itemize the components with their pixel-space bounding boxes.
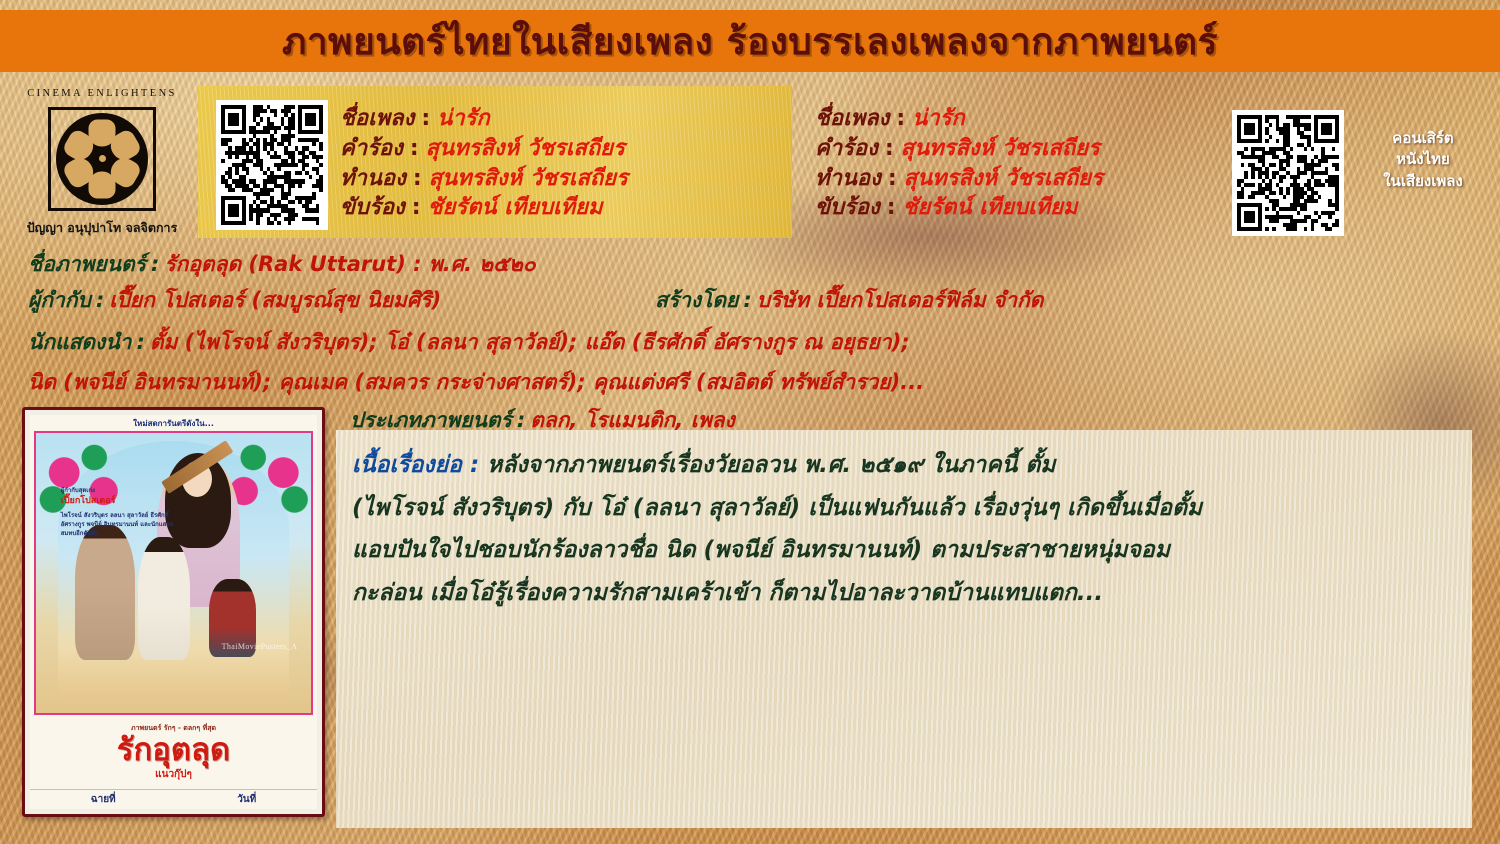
song-info-left: ชื่อเพลง : น่ารัก คำร้อง : สุนทรสิงห์ วั… [340,92,790,236]
song-row-singer: ขับร้อง : ชัยรัตน์ เทียบเทียม [340,195,790,222]
song-row-melody: ทำนอง : สุนทรสิงห์ วัชรเสถียร [340,166,790,193]
song-singer-value: ชัยรัตน์ เทียบเทียม [428,195,603,222]
film-reel-icon [48,107,156,211]
film-title-label: ชื่อภาพยนตร์ [28,252,146,276]
song-row-title: ชื่อเพลง : น่ารัก [815,106,1255,133]
qr-module [319,221,323,225]
separator: : [146,252,164,276]
separator: : [512,408,530,432]
synopsis-line-2: (ไพโรจน์ สังวริบุตร) กับ โอ๋ (ลลนา สุลาว… [352,487,1482,530]
poster-watermark: ThaiMoviePosters_A [222,642,298,651]
figure-girl-center [138,537,190,660]
song-lyrics-value: สุนทรสิงห์ วัชรเสถียร [426,136,625,163]
song-title-label: ชื่อเพลง [340,106,414,133]
poster-credits-highlight: เปี๊ยกโปสเตอร์ [61,495,177,509]
film-genre-row: ประเภทภาพยนตร์:ตลก, โรแมนติก, เพลง [350,408,735,433]
song-singer-value: ชัยรัตน์ เทียบเทียม [903,195,1078,222]
song-lyrics-value: สุนทรสิงห์ วัชรเสถียร [901,136,1100,163]
concert-caption: คอนเสิร์ต หนังไทย ในเสียงเพลง [1358,128,1488,192]
logo-bottom-text: ปัญญา อนุปุปาโท จลจิตการ [27,218,178,238]
film-title-value: รักอุตลุด (Rak Uttarut) : พ.ศ. ๒๕๒๐ [164,252,535,276]
song-lyrics-label: คำร้อง [815,136,878,163]
poster-top-text: ใหม่สดการันตรีดังใน... [30,415,317,431]
synopsis-heading: เนื้อเรื่องย่อ [352,452,462,478]
song-row-lyrics: คำร้อง : สุนทรสิงห์ วัชรเสถียร [815,136,1255,163]
separator: : [878,136,901,163]
concert-caption-line-1: คอนเสิร์ต [1358,128,1488,149]
film-cast-row-2: นิด (พจนีย์ อินทรมานนท์); คุณเมค (สมควร … [28,370,924,395]
separator: : [881,166,904,193]
separator: : [406,166,429,193]
song-melody-value: สุนทรสิงห์ วัชรเสถียร [429,166,628,193]
concert-caption-line-2: หนังไทย [1358,149,1488,170]
poster-credits-pre: ผู้กำกับสุดเก่ง [61,487,95,494]
song-lyrics-label: คำร้อง [340,136,403,163]
poster-title-area: ภาพยนตร์ รักๆ - ตลกๆ ที่สุด รักอุตลุด แน… [30,715,317,789]
film-title-row: ชื่อภาพยนตร์:รักอุตลุด (Rak Uttarut) : พ… [28,252,536,277]
qr-module [1335,227,1339,231]
poster-page: ภาพยนตร์ไทยในเสียงเพลง ร้องบรรเลงเพลงจาก… [0,0,1500,844]
movie-poster-thumbnail[interactable]: ใหม่สดการันตรีดังใน... ผู้กำกับสุดเก่ง เ… [22,407,325,817]
film-director-value: เปี๊ยก โปสเตอร์ (สมบูรณ์สุข นิยมศิริ) [109,288,441,312]
poster-subtitle: แนวกุ๊ปๆ [155,767,192,782]
film-genre-value: ตลก, โรแมนติก, เพลง [530,408,735,432]
separator: : [414,106,437,133]
logo-top-text: CINEMA ENLIGHTENS [27,88,177,99]
film-producer-row: สร้างโดย:บริษัท เปี๊ยกโปสเตอร์ฟิล์ม จำกั… [655,288,1043,313]
film-director-row: ผู้กำกับ:เปี๊ยก โปสเตอร์ (สมบูรณ์สุข นิย… [28,288,441,313]
separator: : [889,106,912,133]
poster-footer-left: ฉายที่ [91,792,116,807]
concert-caption-line-3: ในเสียงเพลง [1358,171,1488,192]
song-row-melody: ทำนอง : สุนทรสิงห์ วัชรเสถียร [815,166,1255,193]
song-melody-label: ทำนอง [815,166,881,193]
separator: : [880,195,903,222]
poster-credits-names: ไพโรจน์ สังวริบุตร ลลนา สุลาวัลย์ ธีรศัก… [61,512,173,537]
separator: : [91,288,109,312]
song-title-value: น่ารัก [437,106,490,133]
film-cast-label: นักแสดงนำ [28,330,131,354]
figure-man-left [75,525,136,659]
poster-title: รักอุตลุด [117,735,230,766]
synopsis-line-1: เนื้อเรื่องย่อ : หลังจากภาพยนตร์เรื่องวั… [352,444,1482,487]
qr-code-icon-left[interactable] [216,100,328,230]
film-producer-value: บริษัท เปี๊ยกโปสเตอร์ฟิล์ม จำกัด [757,288,1044,312]
film-director-label: ผู้กำกับ [28,288,91,312]
song-title-value: น่ารัก [912,106,965,133]
header-banner: ภาพยนตร์ไทยในเสียงเพลง ร้องบรรเลงเพลงจาก… [0,10,1500,72]
film-genre-label: ประเภทภาพยนตร์ [350,408,512,432]
separator: : [462,452,487,478]
separator: : [738,288,756,312]
song-row-title: ชื่อเพลง : น่ารัก [340,106,790,133]
synopsis-line-3: แอบปันใจไปชอบนักร้องลาวชื่อ นิด (พจนีย์ … [352,529,1482,572]
poster-footer-right: วันที่ [237,792,256,807]
film-cast-row-1: นักแสดงนำ:ตั้ม (ไพโรจน์ สังวริบุตร); โอ๋… [28,330,910,355]
cinema-enlightens-logo: CINEMA ENLIGHTENS ปัญญา อนุปุปาโท จลจิตก… [22,88,182,238]
synopsis-body-1: หลังจากภาพยนตร์เรื่องวัยอลวน พ.ศ. ๒๕๑๙ ใ… [487,452,1055,478]
film-cast-value-2: นิด (พจนีย์ อินทรมานนท์); คุณเมค (สมควร … [28,370,924,394]
synopsis-text: เนื้อเรื่องย่อ : หลังจากภาพยนตร์เรื่องวั… [352,444,1482,614]
poster-footer: ฉายที่ วันที่ [30,789,317,809]
synopsis-line-4: กะล่อน เมื่อโอ๋รู้เรื่องความรักสามเคร้าเ… [352,572,1482,615]
separator: : [403,136,426,163]
separator: : [405,195,428,222]
song-melody-label: ทำนอง [340,166,406,193]
song-singer-label: ขับร้อง [815,195,880,222]
song-row-singer: ขับร้อง : ชัยรัตน์ เทียบเทียม [815,195,1255,222]
poster-artwork: ผู้กำกับสุดเก่ง เปี๊ยกโปสเตอร์ ไพโรจน์ ส… [34,431,313,715]
film-producer-label: สร้างโดย [655,288,738,312]
page-title: ภาพยนตร์ไทยในเสียงเพลง ร้องบรรเลงเพลงจาก… [282,12,1218,71]
poster-credits: ผู้กำกับสุดเก่ง เปี๊ยกโปสเตอร์ ไพโรจน์ ส… [61,486,177,538]
song-singer-label: ขับร้อง [340,195,405,222]
song-info-right: ชื่อเพลง : น่ารัก คำร้อง : สุนทรสิงห์ วั… [815,92,1255,236]
song-melody-value: สุนทรสิงห์ วัชรเสถียร [904,166,1103,193]
film-cast-value-1: ตั้ม (ไพโรจน์ สังวริบุตร); โอ๋ (ลลนา สุล… [150,330,910,354]
song-row-lyrics: คำร้อง : สุนทรสิงห์ วัชรเสถียร [340,136,790,163]
separator: : [131,330,149,354]
song-title-label: ชื่อเพลง [815,106,889,133]
